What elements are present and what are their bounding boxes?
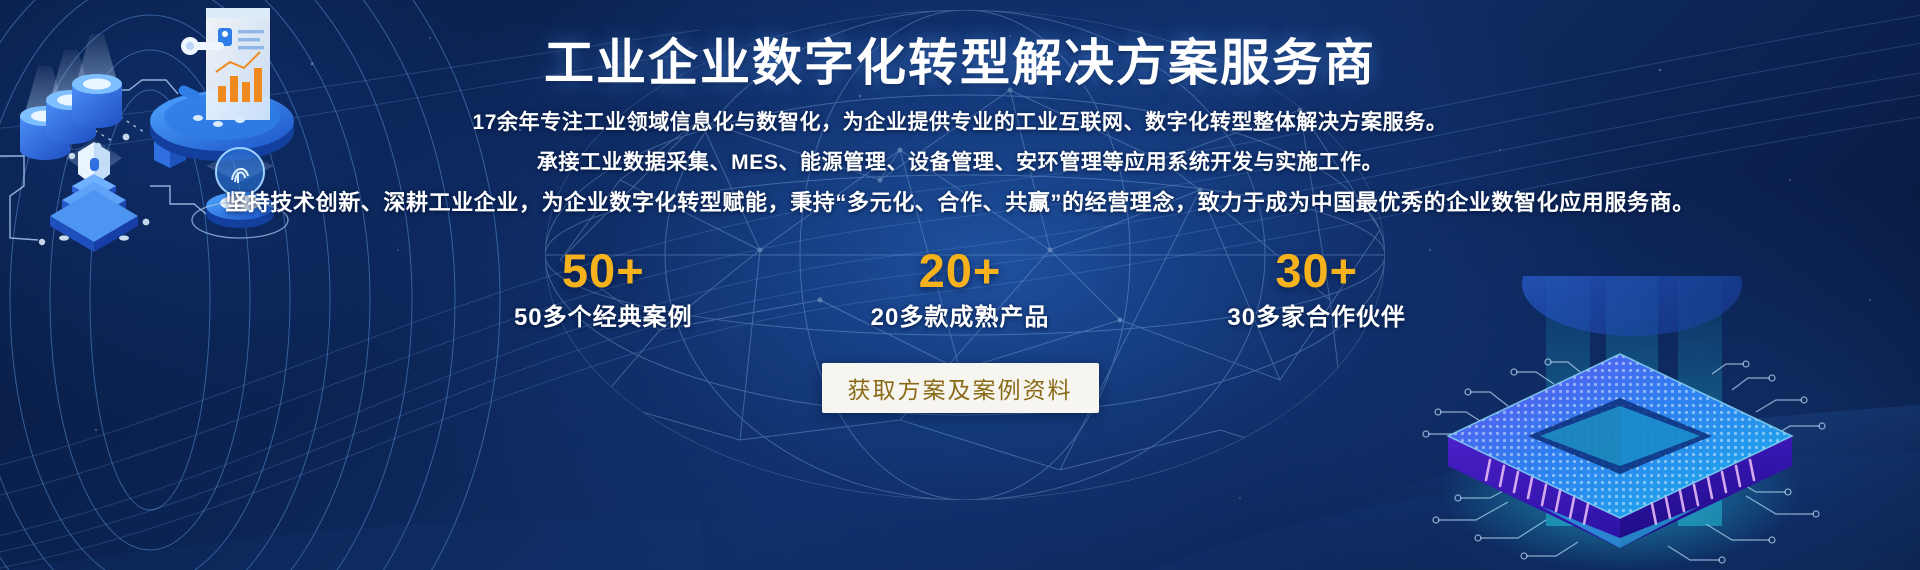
stat-cases-label: 50多个经典案例: [514, 306, 693, 330]
stat-partners-label: 30多家合作伙伴: [1227, 306, 1406, 330]
stat-partners-value: 30+: [1275, 247, 1358, 294]
stats-group: 50+ 50多个经典案例 20+ 20多款成熟产品 30+ 30多家合作伙伴: [514, 247, 1406, 330]
subtitle-line-1: 17余年专注工业领域信息化与数智化，为企业提供专业的工业互联网、数字化转型整体解…: [225, 112, 1695, 133]
hero-banner: 工业企业数字化转型解决方案服务商 17余年专注工业领域信息化与数智化，为企业提供…: [0, 0, 1920, 570]
stat-products-value: 20+: [919, 247, 1002, 294]
banner-content: 工业企业数字化转型解决方案服务商 17余年专注工业领域信息化与数智化，为企业提供…: [0, 0, 1920, 570]
subtitle-line-2: 承接工业数据采集、MES、能源管理、设备管理、安环管理等应用系统开发与实施工作。: [225, 152, 1695, 173]
stat-partners: 30+ 30多家合作伙伴: [1227, 247, 1406, 330]
page-title: 工业企业数字化转型解决方案服务商: [544, 36, 1376, 90]
get-solution-button[interactable]: 获取方案及案例资料: [822, 363, 1099, 413]
stat-products-label: 20多款成熟产品: [871, 306, 1050, 330]
cta-wrapper: 获取方案及案例资料: [822, 363, 1099, 413]
subtitle-group: 17余年专注工业领域信息化与数智化，为企业提供专业的工业互联网、数字化转型整体解…: [225, 112, 1695, 233]
stat-cases: 50+ 50多个经典案例: [514, 247, 693, 330]
stat-products: 20+ 20多款成熟产品: [871, 247, 1050, 330]
subtitle-line-3: 坚持技术创新、深耕工业企业，为企业数字化转型赋能，秉持“多元化、合作、共赢”的经…: [225, 192, 1695, 214]
stat-cases-value: 50+: [562, 247, 645, 294]
